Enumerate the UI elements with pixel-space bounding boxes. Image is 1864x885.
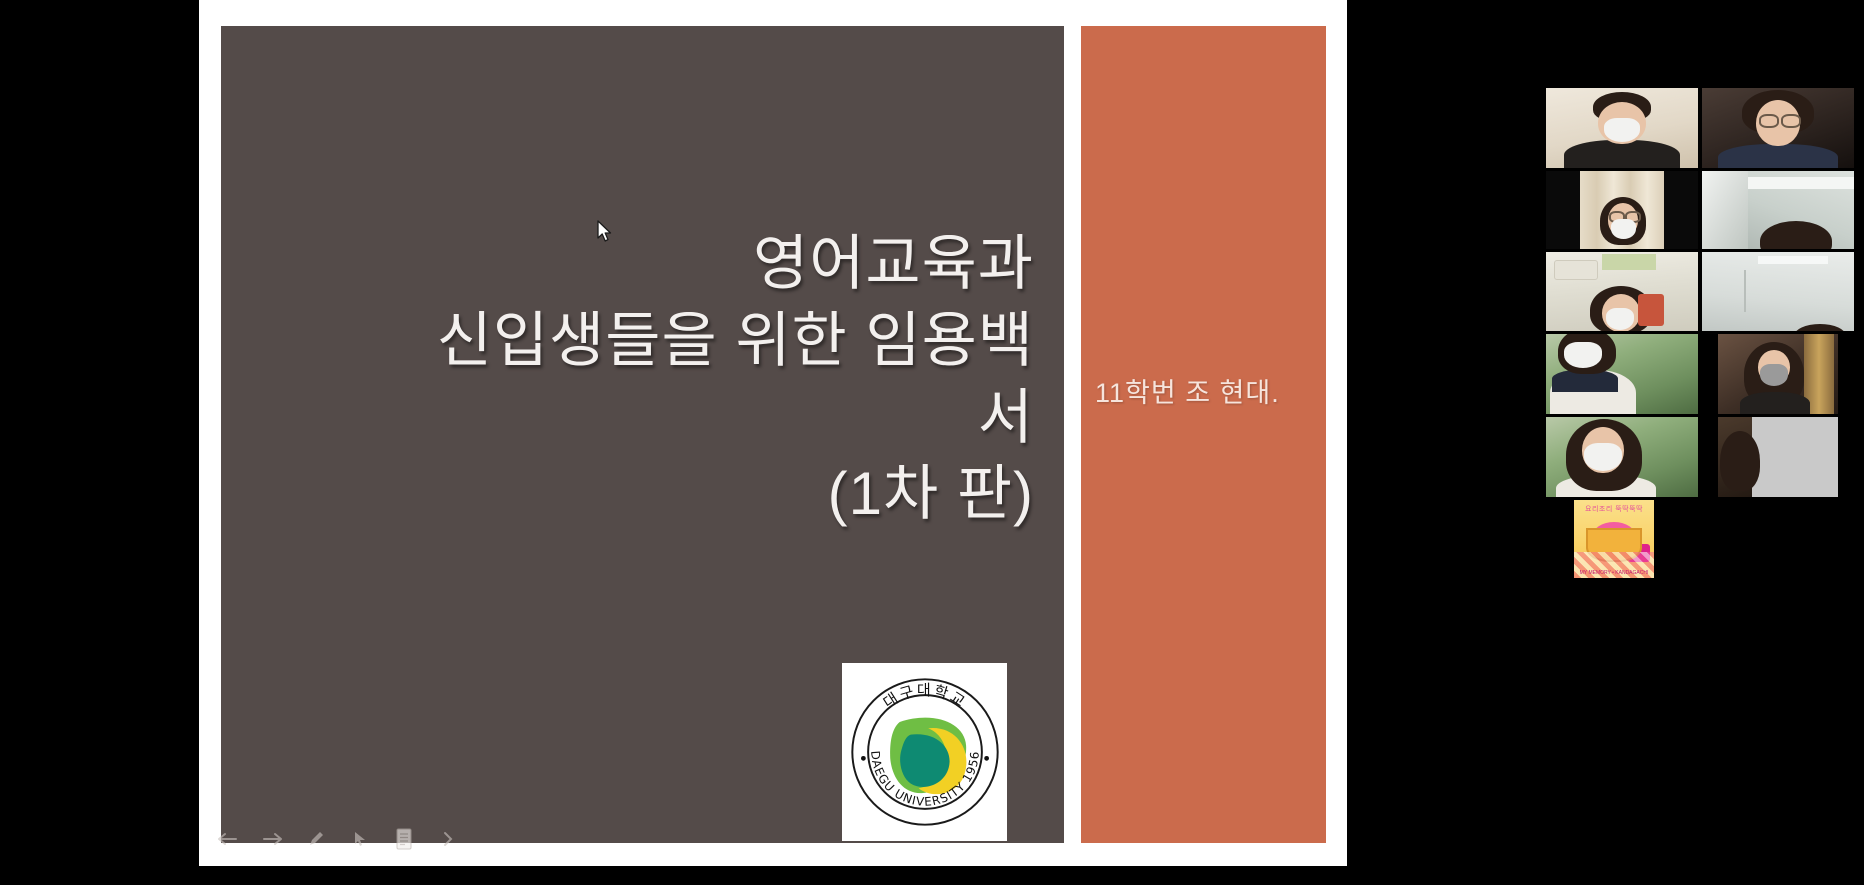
participant-video-grid[interactable]: 요리조리 뚝딱뚝딱 MY MEMORY • KANDAGACHI: [1546, 88, 1854, 613]
video-tile[interactable]: 요리조리 뚝딱뚝딱 MY MEMORY • KANDAGACHI: [1574, 500, 1654, 578]
video-tile[interactable]: [1718, 417, 1838, 497]
slide-accent-panel: 11학번 조 현대.: [1081, 26, 1326, 843]
video-tile[interactable]: [1546, 417, 1698, 497]
notes-panel-icon[interactable]: [391, 826, 417, 852]
video-tile[interactable]: [1702, 88, 1854, 168]
slide-main-panel: 영어교육과 신입생들을 위한 임용백 서 (1차 판): [221, 26, 1064, 843]
presenter-label: 11학번 조 현대.: [1095, 371, 1325, 410]
previous-slide-icon[interactable]: [215, 826, 241, 852]
presenter-toolbar[interactable]: [207, 822, 461, 856]
video-tile[interactable]: [1546, 88, 1698, 168]
slide-title-line-2: 신입생들을 위한 임용백: [234, 303, 1034, 380]
pen-tool-icon[interactable]: [303, 826, 329, 852]
video-tile[interactable]: [1718, 334, 1838, 414]
slide-title: 영어교육과 신입생들을 위한 임용백 서 (1차 판): [234, 226, 1034, 533]
video-tile[interactable]: [1702, 171, 1854, 249]
video-tile[interactable]: [1546, 171, 1698, 249]
slide-title-line-3: 서: [234, 380, 1034, 457]
slide-title-line-4: (1차 판): [234, 456, 1034, 533]
pointer-tool-icon[interactable]: [347, 826, 373, 852]
poster-footer: MY MEMORY • KANDAGACHI: [1574, 570, 1654, 576]
video-tile[interactable]: [1546, 334, 1698, 414]
screen-root: 영어교육과 신입생들을 위한 임용백 서 (1차 판): [0, 0, 1864, 885]
next-slide-icon[interactable]: [259, 826, 285, 852]
slide-title-line-1: 영어교육과: [234, 226, 1034, 303]
poster-title: 요리조리 뚝딱뚝딱: [1574, 504, 1654, 514]
video-tile[interactable]: [1546, 252, 1698, 331]
daegu-university-logo: 대구대학교 DAEGU UNIVERSITY 1956: [842, 663, 1007, 841]
shared-presentation-window[interactable]: 영어교육과 신입생들을 위한 임용백 서 (1차 판): [199, 0, 1347, 866]
video-tile[interactable]: [1702, 252, 1854, 331]
daegu-university-seal-icon: 대구대학교 DAEGU UNIVERSITY 1956: [846, 673, 1004, 831]
expand-arrow-icon[interactable]: [435, 826, 461, 852]
